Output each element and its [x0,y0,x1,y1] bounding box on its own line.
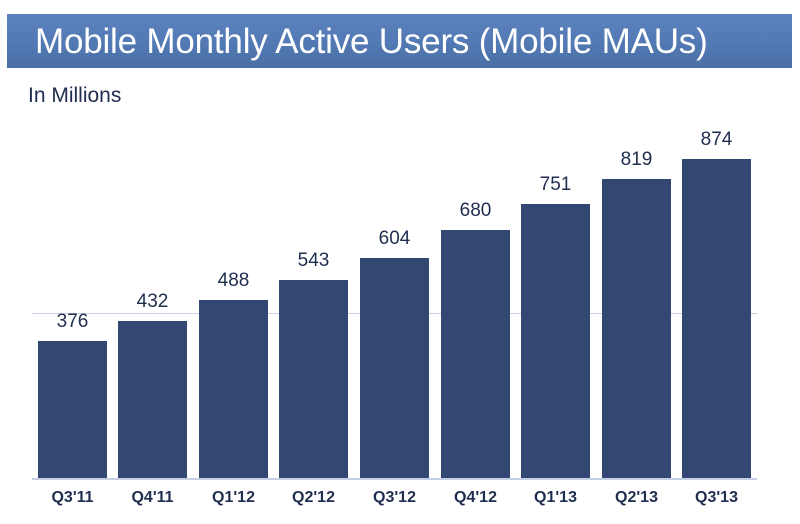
bar[interactable] [279,280,348,479]
bar-value-label: 432 [118,291,187,313]
x-axis-label: Q3'11 [38,489,107,507]
bar-value-label: 751 [521,174,590,196]
bar-value-label: 543 [279,250,348,272]
bar-value-label: 874 [682,129,751,151]
bar[interactable] [521,204,590,479]
x-axis-label: Q2'13 [602,489,671,507]
bar-value-label: 488 [199,270,268,292]
bar[interactable] [38,341,107,479]
bar[interactable] [602,179,671,479]
bar-value-label: 376 [38,311,107,333]
bar[interactable] [199,300,268,479]
x-axis-label: Q1'12 [199,489,268,507]
bar[interactable] [441,230,510,479]
x-axis-label: Q3'12 [360,489,429,507]
bar-value-label: 604 [360,228,429,250]
x-axis-label: Q3'13 [682,489,751,507]
x-axis-label: Q4'11 [118,489,187,507]
x-axis-label: Q1'13 [521,489,590,507]
bar[interactable] [360,258,429,479]
x-axis-label: Q2'12 [279,489,348,507]
bar-chart: 376Q3'11432Q4'11488Q1'12543Q2'12604Q3'12… [0,0,800,524]
bar[interactable] [118,321,187,479]
bar-value-label: 680 [441,200,510,222]
x-axis-label: Q4'12 [441,489,510,507]
bar-value-label: 819 [602,149,671,171]
bar[interactable] [682,159,751,479]
x-axis-line [32,478,757,480]
